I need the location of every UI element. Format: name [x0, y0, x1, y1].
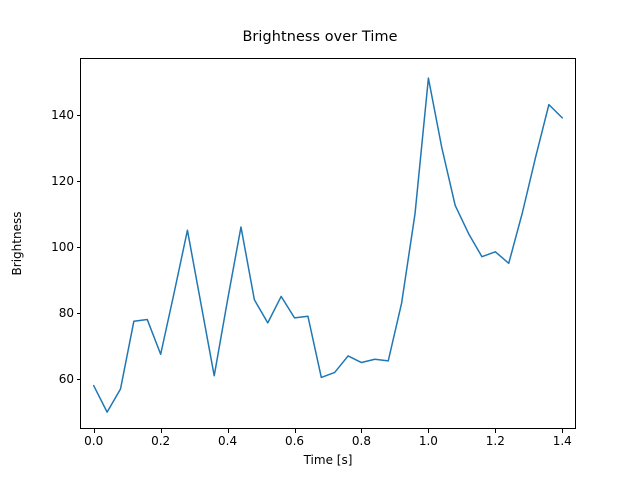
x-tick-mark: [495, 429, 496, 433]
x-tick-mark: [161, 429, 162, 433]
figure-canvas: Brightness over Time 0.00.20.40.60.81.01…: [0, 0, 640, 480]
x-tick-mark: [295, 429, 296, 433]
x-tick-label: 1.0: [419, 434, 438, 448]
x-axis-label: Time [s]: [80, 453, 576, 467]
chart-title: Brightness over Time: [0, 29, 640, 45]
plot-area: [80, 58, 576, 429]
y-tick-label: 60: [59, 372, 74, 386]
x-tick-label: 0.4: [218, 434, 237, 448]
x-tick-mark: [361, 429, 362, 433]
x-tick-mark: [428, 429, 429, 433]
x-tick-label: 1.4: [553, 434, 572, 448]
x-tick-mark: [562, 429, 563, 433]
x-tick-label: 0.6: [285, 434, 304, 448]
y-tick-mark: [77, 115, 81, 116]
brightness-line: [94, 78, 563, 412]
y-tick-label: 100: [51, 240, 74, 254]
y-axis-label: Brightness: [10, 58, 26, 429]
x-tick-label: 0.2: [151, 434, 170, 448]
y-tick-mark: [77, 247, 81, 248]
x-tick-label: 0.8: [352, 434, 371, 448]
x-tick-label: 0.0: [84, 434, 103, 448]
y-tick-mark: [77, 181, 81, 182]
y-tick-label: 80: [59, 306, 74, 320]
y-tick-label: 140: [51, 108, 74, 122]
y-tick-mark: [77, 379, 81, 380]
data-line-svg: [80, 58, 576, 429]
x-tick-mark: [228, 429, 229, 433]
x-tick-mark: [94, 429, 95, 433]
x-tick-label: 1.2: [486, 434, 505, 448]
y-tick-label: 120: [51, 174, 74, 188]
y-tick-mark: [77, 313, 81, 314]
